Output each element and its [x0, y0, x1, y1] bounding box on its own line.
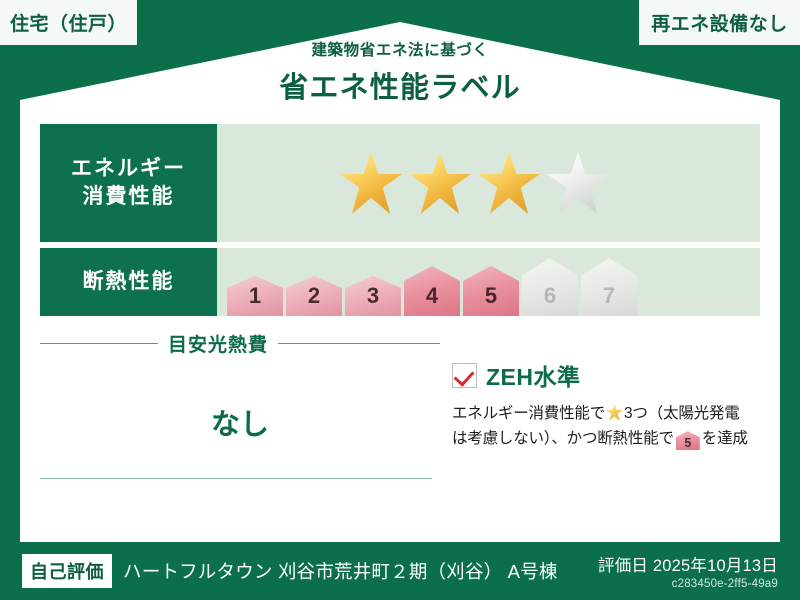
checkmark-icon [452, 363, 477, 388]
energy-performance-value [217, 124, 760, 242]
footer-right: 評価日 2025年10月13日 c283450e-2ff5-49a9 [598, 552, 800, 590]
star-icon-3 [478, 152, 540, 214]
insulation-level-scale: 1 2 3 4 5 6 7 [217, 248, 637, 316]
level-number-4: 4 [426, 285, 438, 316]
zeh-panel: ZEH水準 エネルギー消費性能で3つ（太陽光発電 は考慮しない）、かつ断熱性能で… [440, 330, 760, 451]
house-icon-level-2: 2 [286, 276, 342, 316]
energy-performance-label: エネルギー 消費性能 [40, 124, 217, 242]
house-icon-inline: 5 [676, 431, 700, 450]
zeh-heading: ZEH水準 [452, 358, 760, 392]
utility-cost-panel: 目安光熱費 なし [40, 330, 440, 451]
utility-cost-value: なし [40, 401, 440, 443]
project-name: ハートフルタウン 刈谷市荒井町２期（刈谷） A号棟 [123, 558, 558, 584]
star-rating [217, 152, 609, 214]
footer-left: 自己評価 ハートフルタウン 刈谷市荒井町２期（刈谷） A号棟 [0, 554, 598, 588]
star-icon-4 [547, 152, 609, 214]
evaluation-id: c283450e-2ff5-49a9 [598, 578, 778, 590]
thermal-performance-label: 断熱性能 [40, 248, 217, 316]
energy-performance-label: 住宅（住戸） 再エネ設備なし 建築物省エネ法に基づく 省エネ性能ラベル エネルギ… [0, 0, 800, 600]
level-number-6: 6 [544, 285, 556, 316]
energy-label-line2: 消費性能 [83, 183, 175, 211]
lower-section: 目安光熱費 なし ZEH水準 エネルギー消費性能で3つ（太陽光発電 は考慮しない… [40, 330, 760, 451]
page-title: 建築物省エネ法に基づく 省エネ性能ラベル [0, 38, 800, 106]
level-number-1: 1 [249, 285, 261, 316]
house-icon-level-4: 4 [404, 266, 460, 316]
house-icon-level-5: 5 [463, 266, 519, 316]
zeh-desc-star-count: 3つ（太陽光発電 [624, 405, 740, 422]
house-icon-level-1: 1 [227, 276, 283, 316]
thermal-performance-row: 断熱性能 1 2 3 4 5 6 7 [40, 248, 760, 316]
house-icon-level-3: 3 [345, 276, 401, 316]
star-icon-1 [340, 152, 402, 214]
thermal-performance-value: 1 2 3 4 5 6 7 [217, 248, 760, 316]
utility-cost-heading: 目安光熱費 [40, 330, 440, 357]
zeh-description: エネルギー消費性能で3つ（太陽光発電 は考慮しない）、かつ断熱性能で5を達成 [452, 401, 760, 451]
level-number-5: 5 [485, 285, 497, 316]
zeh-title: ZEH水準 [486, 358, 581, 392]
evaluation-date: 評価日 2025年10月13日 [598, 552, 778, 576]
zeh-desc-part1: エネルギー消費性能で [452, 405, 605, 422]
label-footer: 自己評価 ハートフルタウン 刈谷市荒井町２期（刈谷） A号棟 評価日 2025年… [0, 542, 800, 600]
title-main: 省エネ性能ラベル [0, 64, 800, 106]
energy-label-line1: エネルギー [71, 155, 186, 183]
title-subtitle: 建築物省エネ法に基づく [0, 38, 800, 60]
heading-rule-right [278, 343, 440, 344]
label-content: エネルギー 消費性能 断熱性能 1 2 3 [40, 124, 760, 451]
house-icon-level-6: 6 [522, 258, 578, 316]
zeh-desc-part2: は考慮しない）、かつ断熱性能で [452, 430, 674, 447]
utility-cost-title: 目安光熱費 [168, 330, 268, 357]
self-evaluation-badge: 自己評価 [22, 554, 112, 588]
utility-cost-bottom-rule [40, 478, 432, 479]
energy-performance-row: エネルギー 消費性能 [40, 124, 760, 242]
star-icon-inline [606, 404, 623, 421]
heading-rule-left [40, 343, 158, 344]
house-icon-level-7: 7 [581, 258, 637, 316]
star-icon-2 [409, 152, 471, 214]
level-number-2: 2 [308, 285, 320, 316]
thermal-label-text: 断熱性能 [83, 268, 175, 296]
zeh-desc-part3: を達成 [702, 430, 748, 447]
level-number-3: 3 [367, 285, 379, 316]
level-number-7: 7 [603, 285, 615, 316]
